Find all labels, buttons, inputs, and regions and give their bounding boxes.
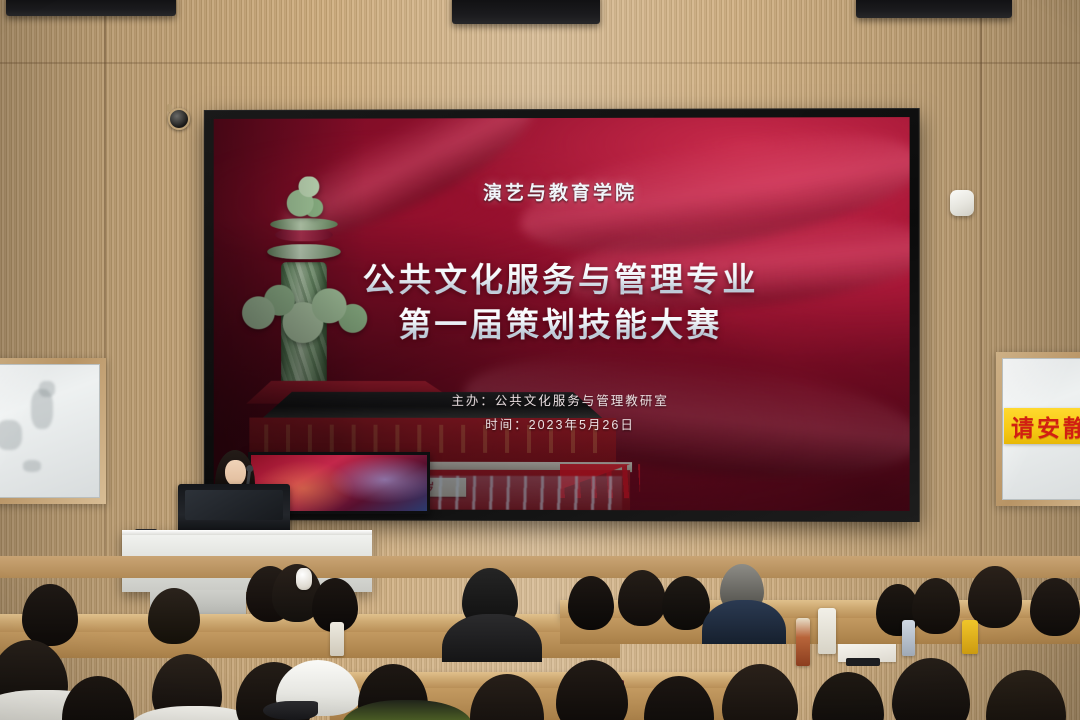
- slide-datetime: 时间：2023年5月26日: [214, 413, 910, 438]
- thermos: [818, 608, 836, 654]
- audience-head: [618, 570, 666, 626]
- hair-clip: [296, 568, 312, 590]
- wall-joint: [980, 0, 982, 560]
- laptop: [178, 484, 290, 534]
- audience-head: [968, 566, 1022, 628]
- audience-head: [22, 584, 78, 646]
- photo-scene: 请安静: [0, 0, 1080, 720]
- audience-head: [568, 576, 614, 630]
- water-bottle: [902, 620, 915, 656]
- whiteboard-left: [0, 358, 106, 504]
- slide-title: 公共文化服务与管理专业 第一届策划技能大赛: [214, 258, 910, 348]
- audience-head: [148, 588, 200, 644]
- water-bottle: [330, 622, 344, 656]
- pillar-plate: [267, 244, 340, 259]
- white-wall-speaker-icon: [950, 190, 974, 216]
- floor-strip: [0, 556, 1080, 578]
- whiteboard-marks: [23, 460, 41, 472]
- whiteboard-marks: [0, 420, 22, 450]
- wall-seam: [0, 62, 1080, 64]
- slide-title-line1: 公共文化服务与管理专业: [214, 258, 910, 303]
- audience-head: [912, 578, 960, 634]
- water-bottle: [962, 620, 978, 654]
- phone: [846, 658, 880, 666]
- audience-head: [1030, 578, 1080, 636]
- water-bottle: [796, 618, 810, 666]
- slide-credits: 主办：公共文化服务与管理教研室 时间：2023年5月26日: [214, 390, 910, 438]
- presenter-face: [225, 460, 246, 486]
- quiet-please-sign: 请安静: [1004, 408, 1080, 444]
- round-wall-speaker-icon: [168, 108, 190, 130]
- whiteboard-marks: [39, 381, 55, 397]
- ceiling-panel: [452, 0, 600, 24]
- ceiling-panel: [6, 0, 176, 16]
- quiet-please-sign-text: 请安静: [1011, 409, 1080, 443]
- slide-title-line2: 第一届策划技能大赛: [214, 302, 910, 347]
- slide-organizer: 主办：公共文化服务与管理教研室: [214, 390, 910, 415]
- ceiling-panel: [856, 0, 1012, 18]
- slide-subtitle: 演艺与教育学院: [214, 177, 910, 205]
